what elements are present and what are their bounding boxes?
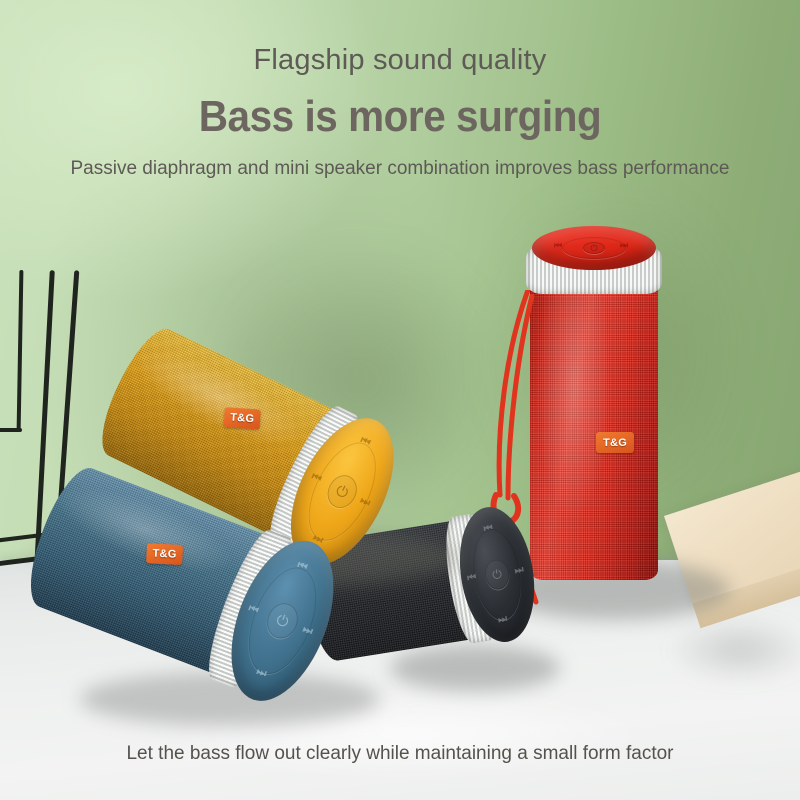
black-speaker-next-icon[interactable]: ⏭ — [497, 614, 508, 626]
eyebrow-text: Flagship sound quality — [0, 44, 800, 77]
red-speaker-top-cap[interactable]: ⏻ ⏮ ⏭ — [532, 226, 656, 270]
subline-text: Passive diaphragm and mini speaker combi… — [0, 158, 800, 180]
black-speaker-prev-icon[interactable]: ⏮ — [483, 523, 494, 535]
black-speaker-vol-down-icon[interactable]: ⏮ — [466, 572, 477, 584]
red-speaker-power-button[interactable]: ⏻ — [583, 242, 605, 254]
red-speaker-badge: T&G — [596, 432, 634, 453]
black-speaker-vol-up-icon[interactable]: ⏭ — [514, 564, 525, 576]
headline-text: Bass is more surging — [32, 92, 768, 142]
red-speaker-prev-icon[interactable]: ⏮ — [554, 240, 562, 251]
blue-speaker-badge: T&G — [146, 543, 183, 565]
yellow-speaker-badge: T&G — [224, 407, 261, 429]
black-speaker-shadow — [390, 645, 560, 691]
caption-text: Let the bass flow out clearly while main… — [0, 743, 800, 765]
product-banner: ART T&G ⏻ ⏮ ⏭ — [0, 0, 800, 800]
red-speaker-next-icon[interactable]: ⏭ — [620, 240, 628, 251]
